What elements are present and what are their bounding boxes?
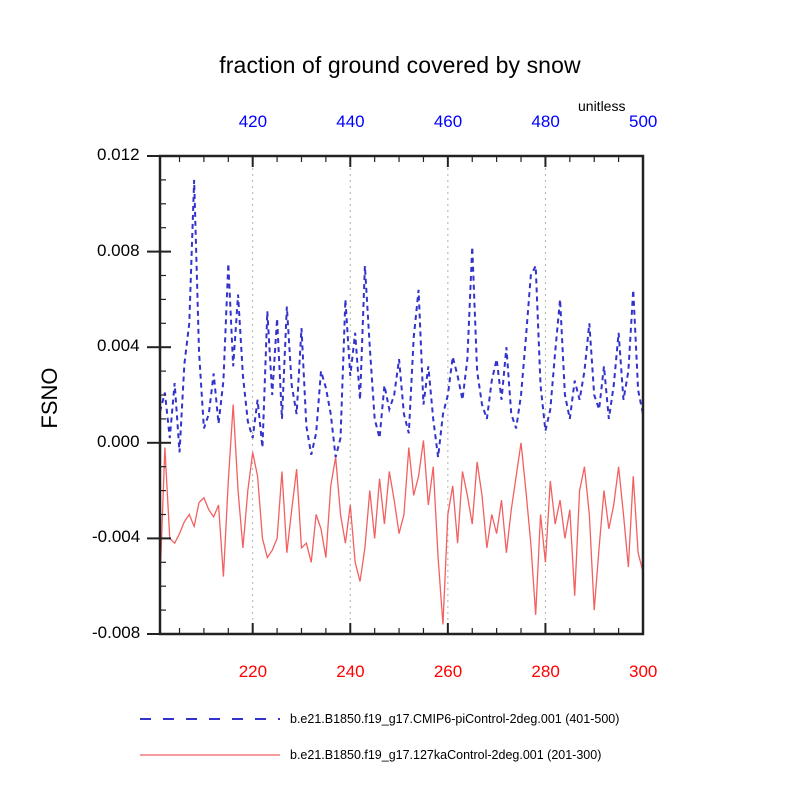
top-tick-label-460: 460 (434, 112, 462, 132)
top-axis-ticks (180, 156, 643, 167)
series-line-1 (160, 405, 643, 625)
bottom-tick-label-300: 300 (629, 662, 657, 682)
top-tick-label-480: 480 (531, 112, 559, 132)
left-tick-label-0: 0.012 (97, 145, 140, 165)
legend-line-sample-0 (140, 712, 280, 726)
legend-label-1: b.e21.B1850.f19_g17.127kaControl-2deg.00… (290, 748, 601, 762)
top-tick-label-420: 420 (239, 112, 267, 132)
left-tick-label-1: 0.008 (97, 241, 140, 261)
plot-svg (0, 0, 800, 800)
chart-page: fraction of ground covered by snow unitl… (0, 0, 800, 800)
page-title: fraction of ground covered by snow (0, 52, 800, 79)
top-tick-label-500: 500 (629, 112, 657, 132)
bottom-tick-label-280: 280 (531, 662, 559, 682)
bottom-tick-label-220: 220 (239, 662, 267, 682)
gridlines (253, 156, 546, 634)
legend-label-0: b.e21.B1850.f19_g17.CMIP6-piControl-2deg… (290, 712, 619, 726)
left-tick-label-4: -0.004 (92, 527, 140, 547)
y-axis-label: FSNO (37, 338, 63, 458)
bottom-axis-ticks (180, 623, 643, 634)
bottom-tick-label-260: 260 (434, 662, 462, 682)
top-tick-label-440: 440 (336, 112, 364, 132)
left-tick-label-2: 0.004 (97, 336, 140, 356)
units-label: unitless (578, 98, 625, 114)
left-tick-label-3: 0.000 (97, 432, 140, 452)
legend-line-sample-1 (140, 748, 280, 762)
bottom-tick-label-240: 240 (336, 662, 364, 682)
left-tick-label-5: -0.008 (92, 623, 140, 643)
